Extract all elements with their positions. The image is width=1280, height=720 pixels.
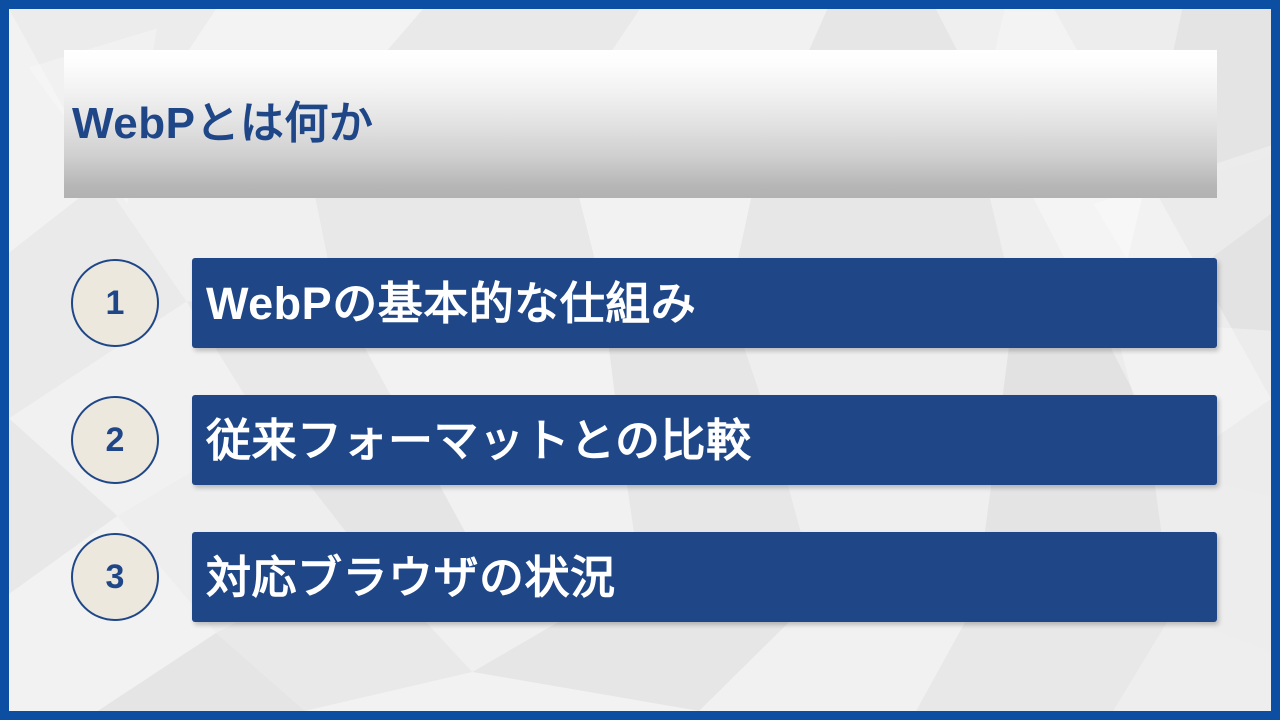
agenda-bar-3[interactable]: 対応ブラウザの状況: [192, 532, 1217, 622]
agenda-number-badge-2: 2: [71, 396, 159, 484]
agenda-bar-label-1: WebPの基本的な仕組み: [192, 281, 696, 326]
agenda-bar-2[interactable]: 従来フォーマットとの比較: [192, 395, 1217, 485]
agenda-item-1[interactable]: 1 WebPの基本的な仕組み: [9, 258, 1271, 348]
agenda-number-badge-3: 3: [71, 533, 159, 621]
agenda-bar-label-2: 従来フォーマットとの比較: [192, 418, 752, 463]
presentation-slide: WebPとは何か 1 WebPの基本的な仕組み 2 従来フォーマットとの比較 3: [0, 0, 1280, 720]
agenda-number-badge-1: 1: [71, 259, 159, 347]
agenda-item-2[interactable]: 2 従来フォーマットとの比較: [9, 395, 1271, 485]
agenda-number-label-2: 2: [106, 423, 125, 457]
page-title: WebPとは何か: [72, 102, 373, 146]
agenda-bar-label-3: 対応ブラウザの状況: [192, 555, 616, 600]
agenda-number-label-1: 1: [106, 286, 125, 320]
agenda-item-3[interactable]: 3 対応ブラウザの状況: [9, 532, 1271, 622]
agenda-bar-1[interactable]: WebPの基本的な仕組み: [192, 258, 1217, 348]
agenda-number-label-3: 3: [106, 560, 125, 594]
agenda-list: 1 WebPの基本的な仕組み 2 従来フォーマットとの比較 3 対応ブラウザの状…: [9, 258, 1271, 622]
slide-title-band: WebPとは何か: [64, 50, 1217, 198]
